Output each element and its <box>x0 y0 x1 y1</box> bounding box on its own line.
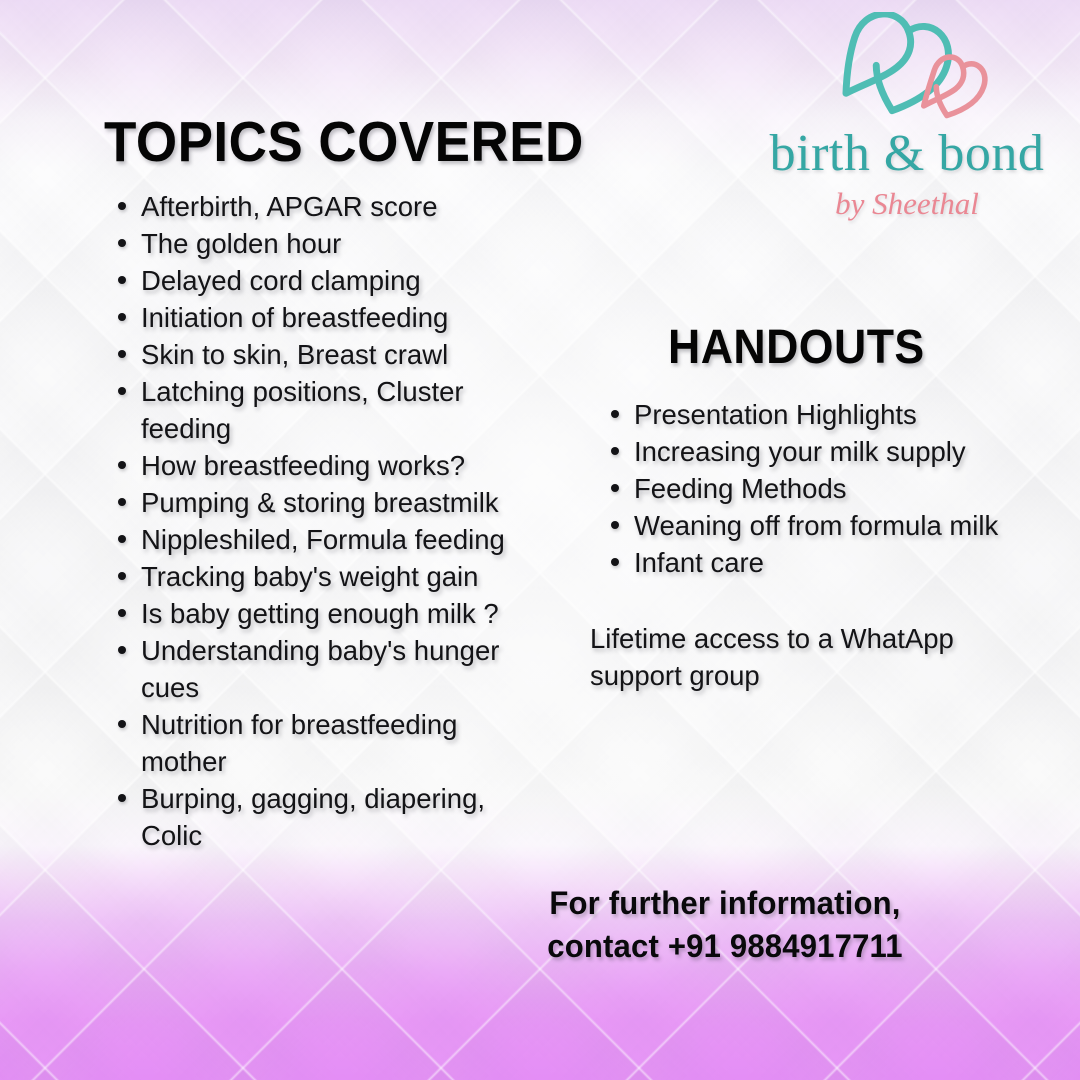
list-item: Latching positions, Cluster feeding <box>105 373 535 447</box>
list-item: Is baby getting enough milk ? <box>105 595 535 632</box>
brand-logo: birth & bond by Sheethal <box>742 12 1072 227</box>
handouts-heading: HANDOUTS <box>668 322 925 374</box>
topics-covered-heading: TOPICS COVERED <box>104 112 584 172</box>
list-item: The golden hour <box>105 225 535 262</box>
logo-wordmark: birth & bond <box>742 125 1072 182</box>
list-item: Burping, gagging, diapering, Colic <box>105 780 535 854</box>
logo-byline: by Sheethal <box>742 187 1072 221</box>
list-item: Nippleshiled, Formula feeding <box>105 521 535 558</box>
footer-line-1: For further information, <box>439 882 1011 925</box>
list-item: Tracking baby's weight gain <box>105 558 535 595</box>
poster-canvas: birth & bond by Sheethal TOPICS COVERED … <box>0 0 1080 1080</box>
list-item: Understanding baby's hunger cues <box>105 632 535 706</box>
list-item: How breastfeeding works? <box>105 447 535 484</box>
list-item: Feeding Methods <box>598 470 1048 507</box>
list-item: Pumping & storing breastmilk <box>105 484 535 521</box>
list-item: Nutrition for breastfeeding mother <box>105 706 535 780</box>
interlocking-hearts-icon <box>822 12 1007 124</box>
list-item: Delayed cord clamping <box>105 262 535 299</box>
list-item: Afterbirth, APGAR score <box>105 188 535 225</box>
list-item: Skin to skin, Breast crawl <box>105 336 535 373</box>
footer-line-2: contact +91 9884917711 <box>439 925 1011 968</box>
contact-footer: For further information, contact +91 988… <box>430 882 1020 968</box>
list-item: Presentation Highlights <box>598 396 1048 433</box>
handouts-list: Presentation Highlights Increasing your … <box>598 396 1048 581</box>
whatsapp-support-note: Lifetime access to a WhatApp support gro… <box>590 620 1010 694</box>
list-item: Increasing your milk supply <box>598 433 1048 470</box>
topics-covered-list: Afterbirth, APGAR score The golden hour … <box>105 188 535 854</box>
list-item: Infant care <box>598 544 1048 581</box>
list-item: Weaning off from formula milk <box>598 507 1048 544</box>
list-item: Initiation of breastfeeding <box>105 299 535 336</box>
